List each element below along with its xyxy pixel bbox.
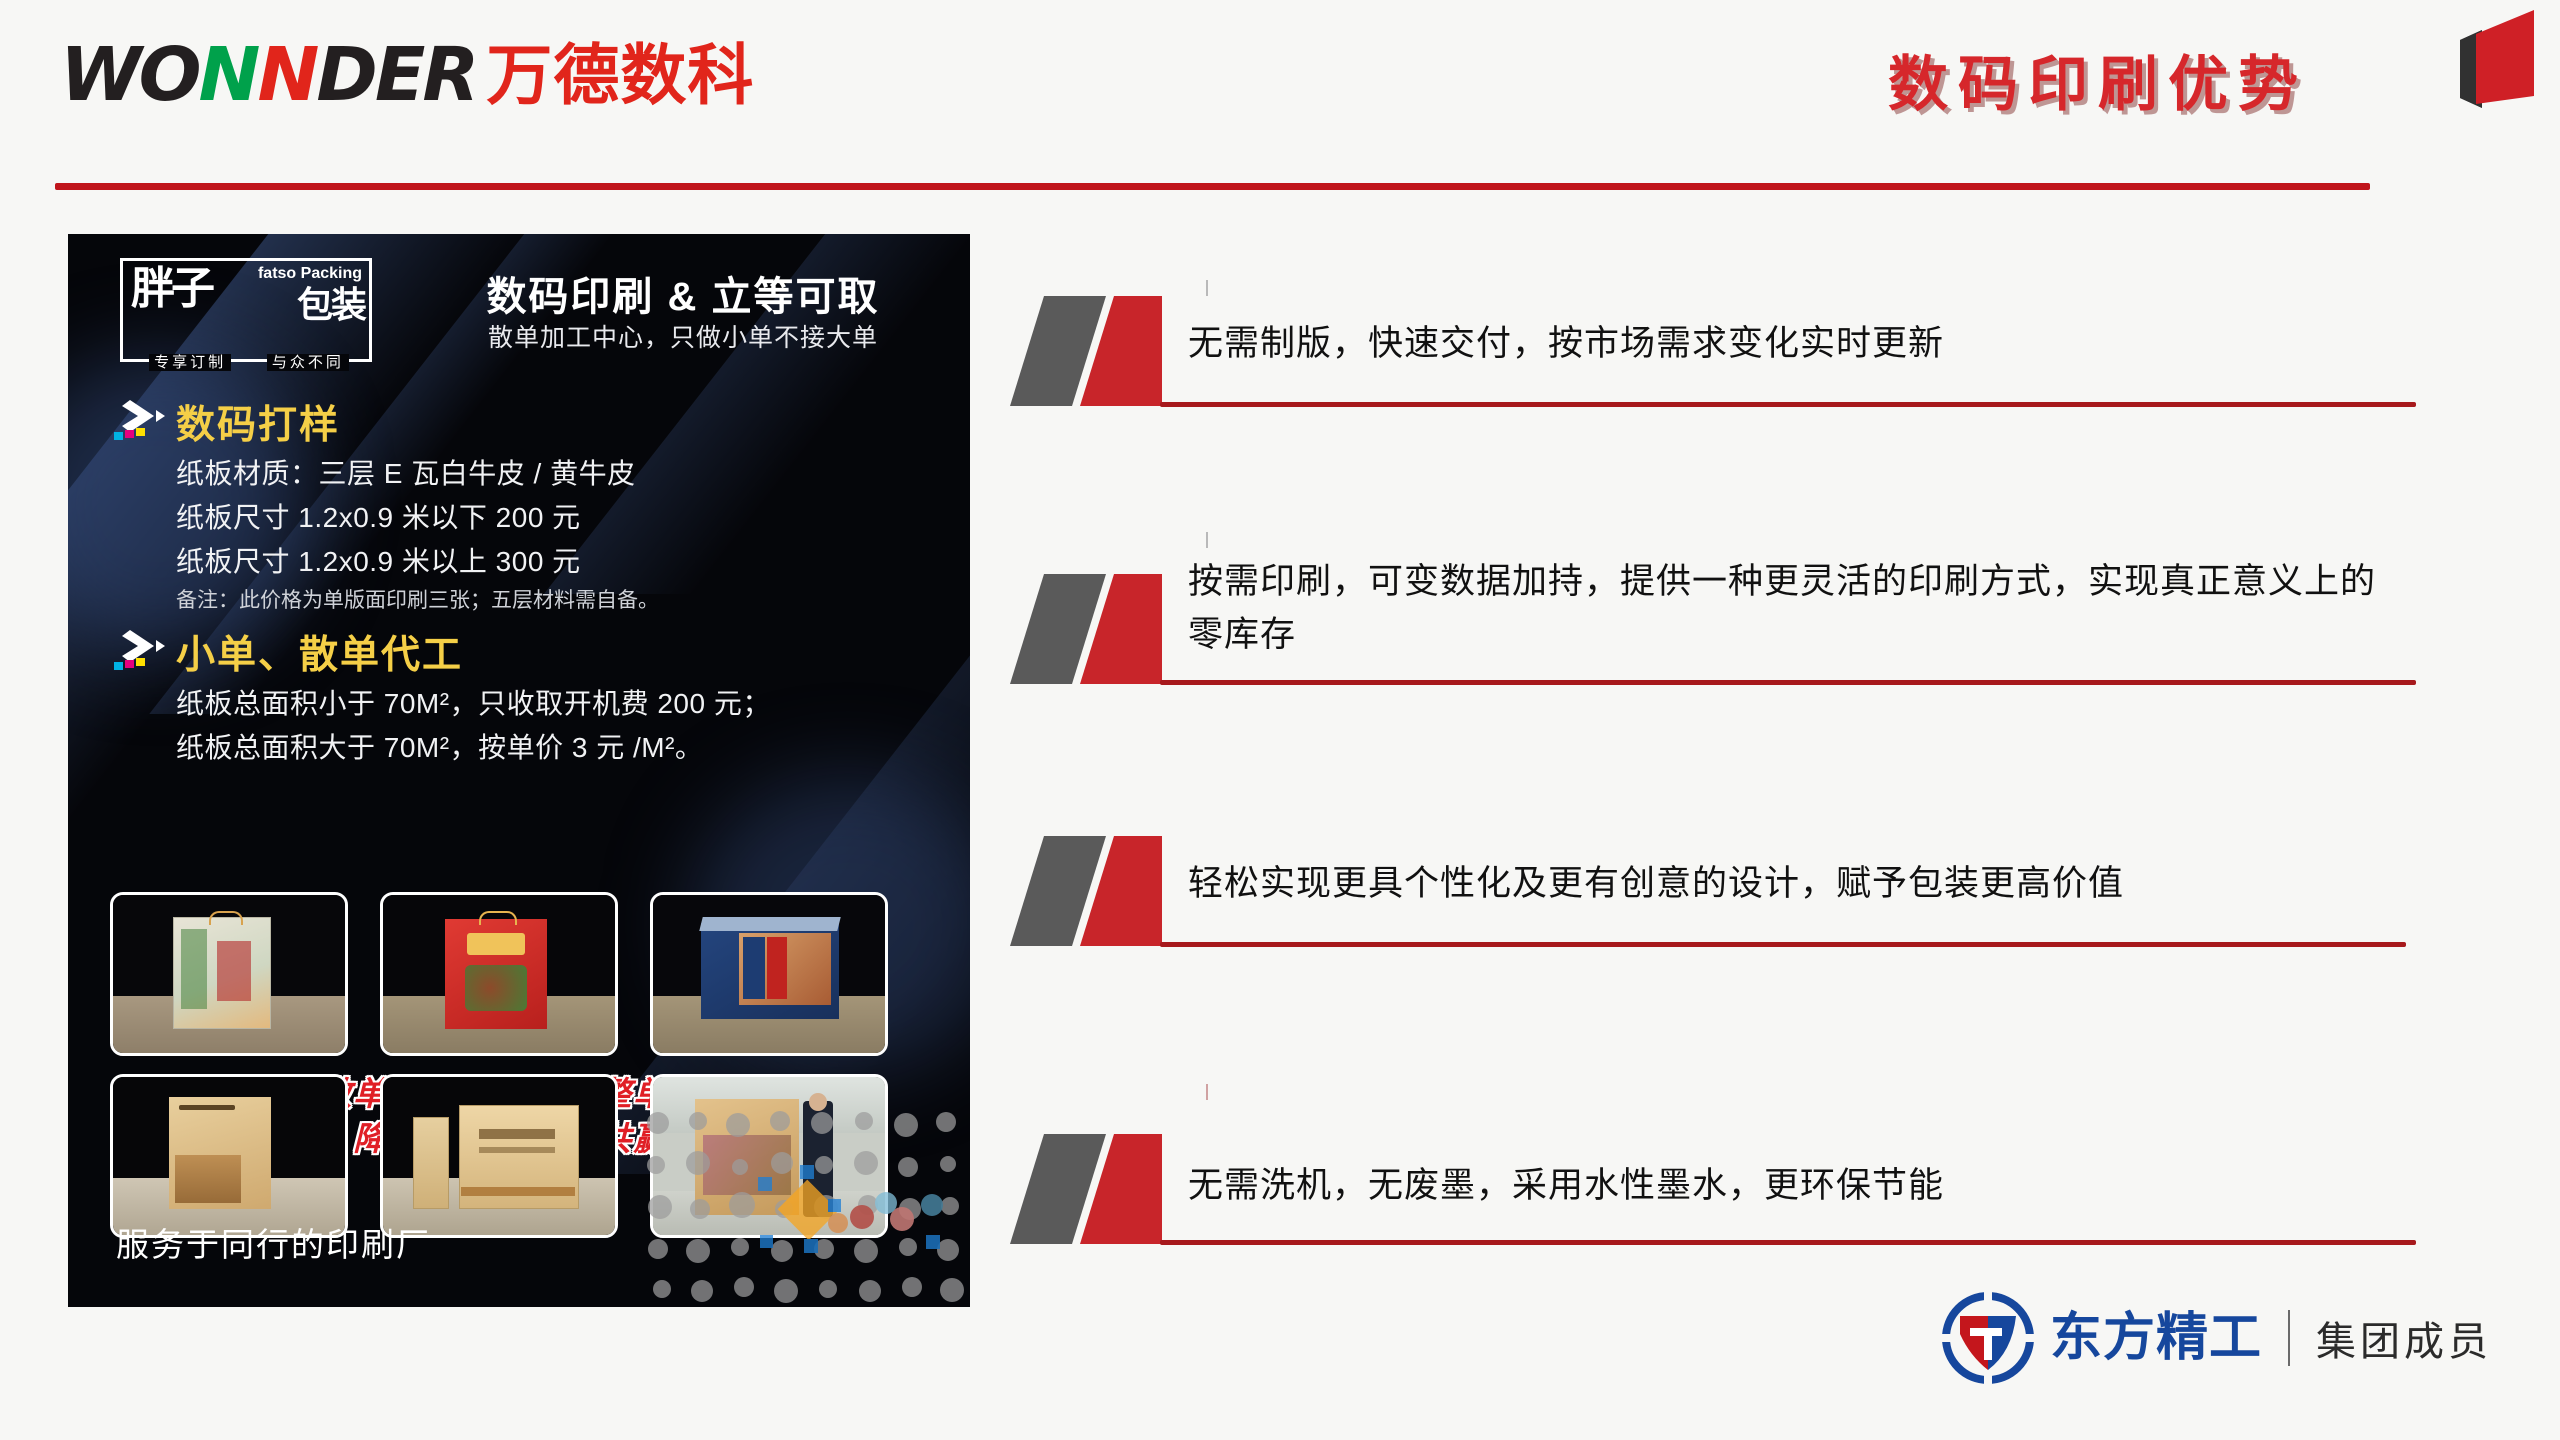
- header-divider: [55, 183, 2370, 190]
- wonder-logo-part-1: WO: [60, 32, 199, 118]
- poster-section-title-2: 小单、散单代工: [176, 624, 463, 680]
- fatso-brand-en: fatso Packing: [258, 266, 362, 282]
- wonder-logo-part-2: DER: [316, 32, 476, 118]
- bullet-text-3: 轻松实现更具个性化及更有创意的设计，赋予包装更高价值: [1188, 858, 2388, 911]
- fatso-brand-pack: 包装: [297, 287, 365, 323]
- slide-header: WONNDER 万德数科 数码印刷优势: [0, 0, 2560, 200]
- bullet-text-2: 按需印刷，可变数据加持，提供一种更灵活的印刷方式，实现真正意义上的零库存: [1188, 556, 2388, 661]
- tick-mark: [1206, 280, 1208, 296]
- wonder-logo-n-green: N: [199, 32, 258, 118]
- fatso-tagline-left: 专享订制: [149, 354, 231, 371]
- bullet-marker-icon: [1010, 292, 1178, 410]
- poster-section-title-1: 数码打样: [176, 394, 340, 450]
- bullet-text-4: 无需洗机，无废墨，采用水性墨水，更环保节能: [1188, 1160, 2388, 1213]
- bullet-underline-2: [1160, 680, 2416, 685]
- bullet-marker-icon: [1010, 570, 1178, 688]
- list-item: [650, 892, 888, 1056]
- bullet-underline-1: [1160, 402, 2416, 407]
- arrow-bullet-icon: [108, 628, 170, 676]
- dongfang-shield-icon: [1940, 1290, 2036, 1386]
- bullet-marker-icon: [1010, 1130, 1178, 1248]
- footer-brand-name: 东方精工: [2050, 1312, 2262, 1364]
- poster-caption: 服务于同行的印刷厂: [116, 1218, 431, 1266]
- tick-mark: [1206, 532, 1208, 548]
- poster-headline: 数码印刷 & 立等可取: [418, 264, 948, 322]
- list-item: [110, 892, 348, 1056]
- page-title: 数码印刷优势: [1888, 36, 2308, 123]
- poster-section-1-line-2: 纸板尺寸 1.2x0.9 米以下 200 元: [176, 496, 581, 536]
- list-item: [380, 892, 618, 1056]
- list-item: [110, 1074, 348, 1238]
- fatso-brand-cn: 胖子: [131, 267, 211, 311]
- fatso-tagline-right: 与众不同: [267, 354, 349, 371]
- promo-poster-image: 胖子 fatso Packing 包装 专享订制 与众不同 数码印刷 & 立等可…: [68, 234, 970, 1307]
- footer-member-label: 集团成员: [2316, 1309, 2492, 1367]
- poster-section-1-line-3: 纸板尺寸 1.2x0.9 米以上 300 元: [176, 540, 581, 580]
- footer-branding: 东方精工 集团成员: [1940, 1290, 2492, 1386]
- bullet-underline-4: [1160, 1240, 2416, 1245]
- bullet-text-1: 无需制版，快速交付，按市场需求变化实时更新: [1188, 318, 2388, 371]
- arrow-bullet-icon: [108, 398, 170, 446]
- poster-header-band: 胖子 fatso Packing 包装 专享订制 与众不同 数码印刷 & 立等可…: [68, 234, 970, 384]
- fatso-brand-tagline: 专享订制 与众不同: [123, 351, 375, 372]
- bullet-marker-icon: [1010, 832, 1178, 950]
- bullet-underline-3: [1160, 942, 2406, 947]
- poster-section-1-line-1: 纸板材质：三层 E 瓦白牛皮 / 黄牛皮: [176, 452, 636, 492]
- wonder-logo-n-red: N: [257, 32, 316, 118]
- list-item: [380, 1074, 618, 1238]
- footer-divider: [2288, 1310, 2290, 1366]
- wonder-logo-chinese: 万德数科: [486, 42, 754, 108]
- halftone-dots-decoration: [640, 1107, 970, 1307]
- fatso-brand-logo: 胖子 fatso Packing 包装 专享订制 与众不同: [120, 258, 372, 362]
- poster-section-1-note: 备注：此价格为单版面印刷三张；五层材料需自备。: [176, 584, 659, 614]
- tick-mark: [1206, 1084, 1208, 1100]
- wonder-wordmark: WONNDER: [60, 38, 476, 112]
- poster-section-2-line-1: 纸板总面积小于 70M²，只收取开机费 200 元；: [176, 682, 771, 722]
- wonder-logo: WONNDER 万德数科: [60, 38, 754, 112]
- poster-subline: 散单加工中心，只做小单不接大单: [418, 318, 948, 354]
- book-page-icon: [2438, 4, 2542, 112]
- poster-section-2-line-2: 纸板总面积大于 70M²，按单价 3 元 /M²。: [176, 726, 703, 766]
